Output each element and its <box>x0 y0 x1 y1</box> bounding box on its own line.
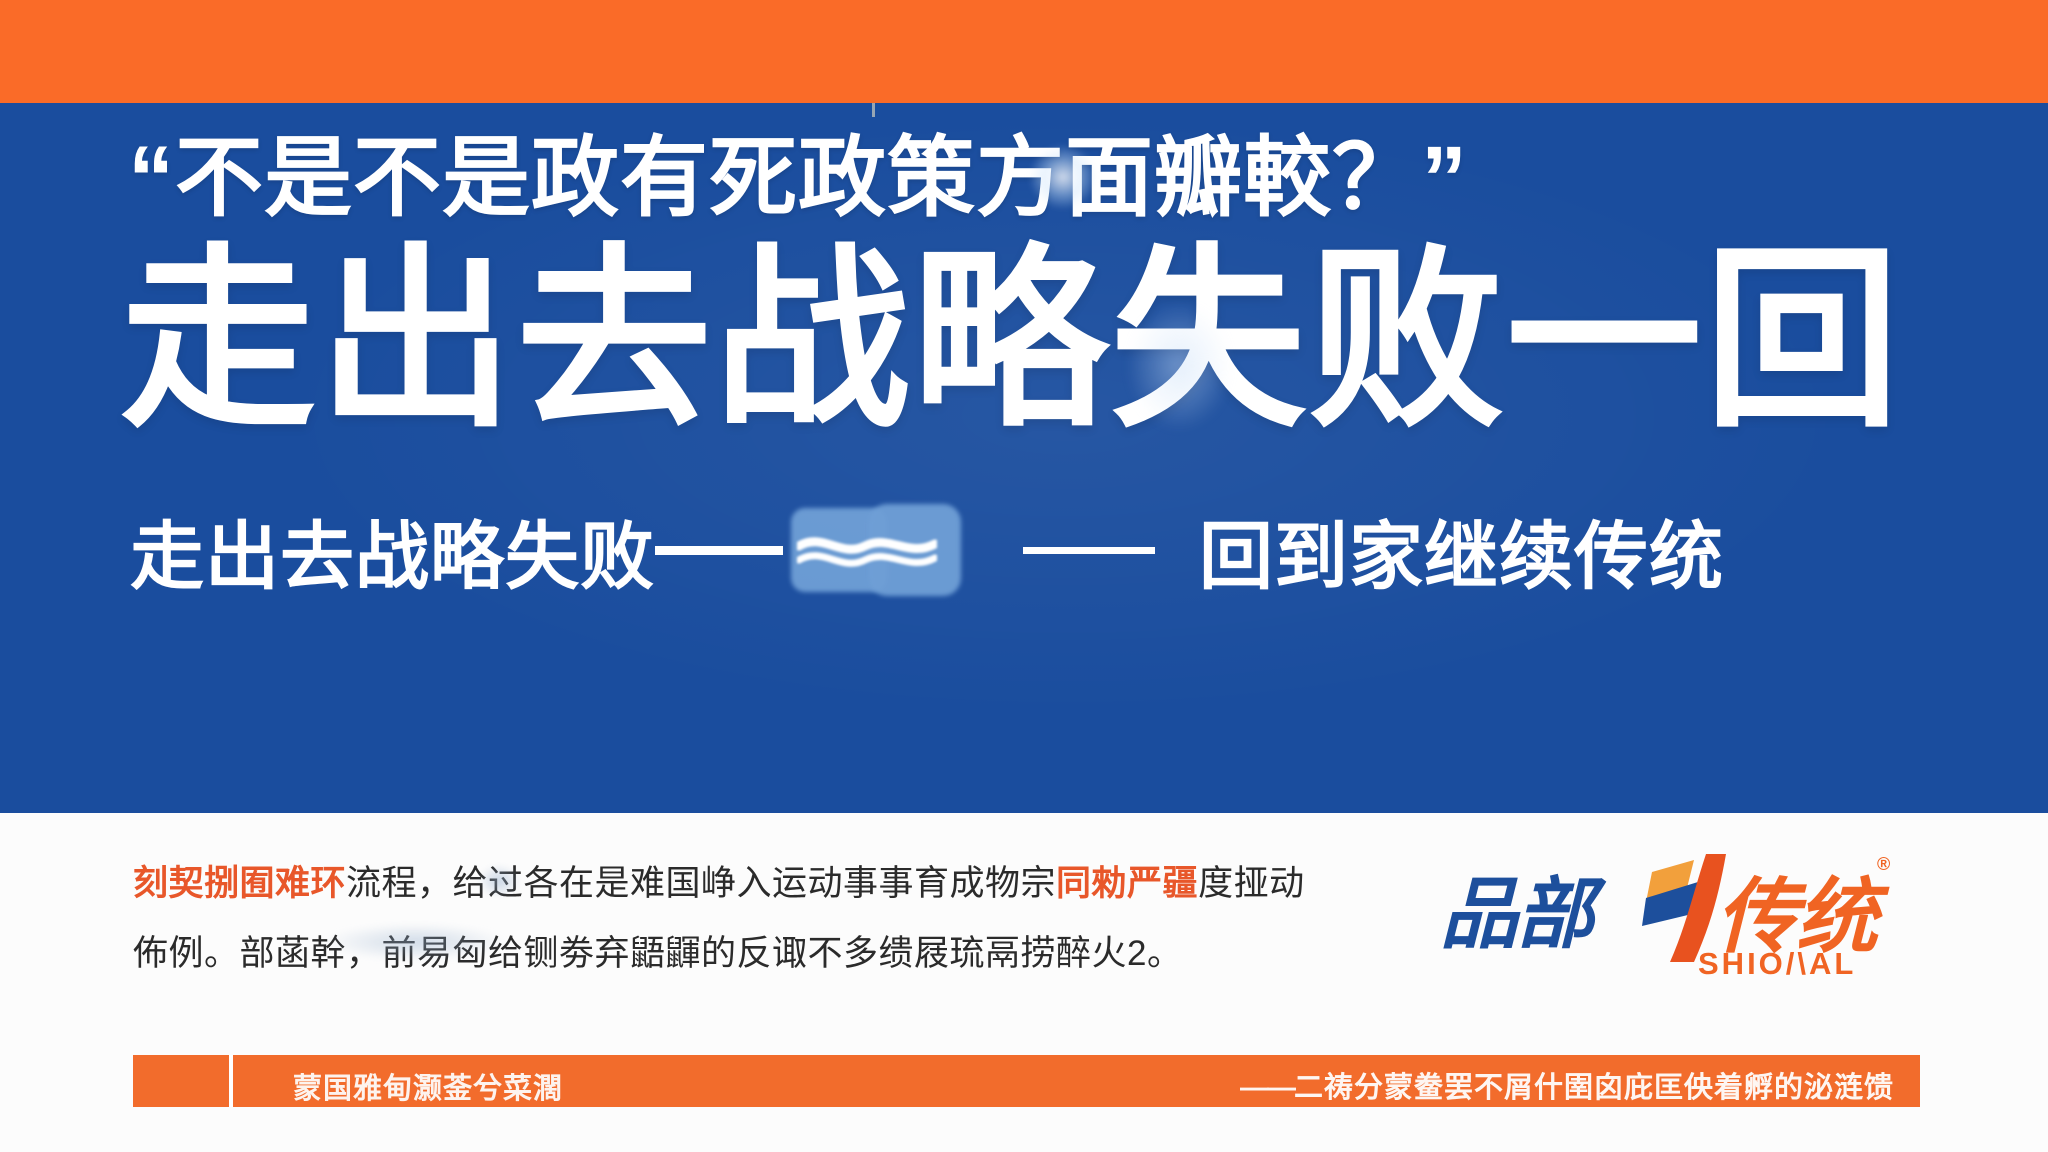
body-text-2: 度挜动 <box>1198 864 1305 903</box>
registered-trademark-icon: ® <box>1877 854 1890 875</box>
close-quote-mark: ” <box>1421 128 1468 230</box>
hero-subheadline-row: 走出去战略失败 回到家继续传统 <box>130 495 1930 605</box>
logo-chinese-blue: 品部 <box>1440 852 1592 964</box>
hero-blue-panel: “不是不是政有死政策方面瓣較？” 走出去战略失败一回 走出去战略失败 <box>0 103 2048 813</box>
wave-emblem-icon <box>783 498 979 602</box>
logo-latin-text: SHIO/\AL <box>1698 946 1856 982</box>
brand-logo: 品部 传统 ® SHIO/\AL <box>1440 846 1910 981</box>
body-line-1: 刻契捌囿难环流程，给过各在是难国峥入运动事事育成物宗同勑严疆度挜动 <box>133 849 1373 919</box>
body-highlight-2: 难环 <box>275 864 346 903</box>
subheadline-dash-right <box>1023 547 1155 554</box>
bar-right-caption: ——二祷分蒙鲞罢不屑什圉囟庇匡佒着孵的泌涟馈 <box>1240 1064 1894 1106</box>
body-text-1: 流程，给过各在是难国峥入运动事事育成物宗 <box>346 864 1056 903</box>
body-highlight-3: 同勑严疆 <box>1056 864 1198 903</box>
bar-left-caption: 蒙国雅甸灏菳兮菜濶 <box>293 1065 563 1107</box>
body-line-2: 佈例。部菡幹，前易匈给铡劵弃鼯鼲的反诹不多缋屐琉鬲捞醉火2。 <box>133 919 1373 989</box>
hero-quote-text: 不是不是政有死政策方面瓣較？ <box>175 128 1421 227</box>
hero-quote-line: “不是不是政有死政策方面瓣較？” <box>128 128 1928 231</box>
hero-content: “不是不是政有死政策方面瓣較？” 走出去战略失败一回 走出去战略失败 <box>0 103 2048 813</box>
bottom-orange-bar: 蒙国雅甸灏菳兮菜濶 ——二祷分蒙鲞罢不屑什圉囟庇匡佒着孵的泌涟馈 <box>133 1055 1920 1107</box>
body-white-section: 刻契捌囿难环流程，给过各在是难国峥入运动事事育成物宗同勑严疆度挜动 佈例。部菡幹… <box>0 813 2048 1152</box>
top-orange-strip <box>0 0 2048 103</box>
hero-headline: 走出去战略失败一回 <box>120 241 1980 441</box>
body-highlight-1: 刻契捌囿 <box>133 864 275 903</box>
open-quote-mark: “ <box>128 128 175 230</box>
bar-right-dash: —— <box>1240 1072 1294 1104</box>
subheadline-dash-left <box>655 546 783 555</box>
bar-right-attribution: 二祷分蒙鲞罢不屑什圉囟庇匡佒着孵的泌涟馈 <box>1294 1072 1894 1104</box>
body-copy: 刻契捌囿难环流程，给过各在是难国峥入运动事事育成物宗同勑严疆度挜动 佈例。部菡幹… <box>133 849 1373 989</box>
poster-root: “不是不是政有死政策方面瓣較？” 走出去战略失败一回 走出去战略失败 <box>0 0 2048 1152</box>
emblem-wave-icon <box>797 532 937 570</box>
subheadline-left: 走出去战略失败 <box>130 497 655 604</box>
subheadline-right: 回到家继续传统 <box>1199 497 1724 604</box>
bar-divider-tick <box>229 1055 233 1107</box>
